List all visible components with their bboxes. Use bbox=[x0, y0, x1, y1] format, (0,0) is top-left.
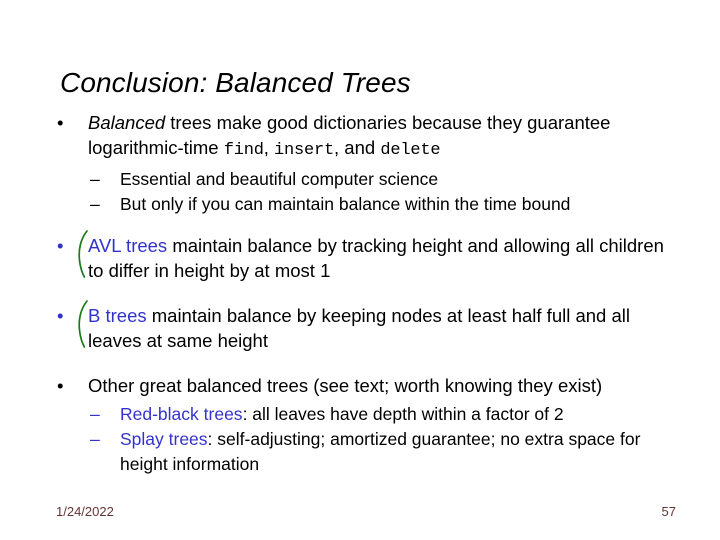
sub-bullet-essential: – Essential and beautiful computer scien… bbox=[88, 167, 672, 192]
bullet-text: B trees maintain balance by keeping node… bbox=[88, 305, 630, 351]
sub-bullet-text: Splay trees: self-adjusting; amortized g… bbox=[120, 429, 640, 474]
sub-bullet-text: Essential and beautiful computer science bbox=[120, 169, 438, 189]
bullet-run-emphasis: Balanced bbox=[88, 112, 165, 133]
footer-page-number: 57 bbox=[0, 503, 676, 520]
spacer bbox=[52, 287, 672, 303]
bullet-run-sep1: , bbox=[264, 137, 274, 158]
bullet-avl-trees: • AVL trees maintain balance by tracking… bbox=[52, 233, 672, 283]
slide-body: • Balanced trees make good dictionaries … bbox=[52, 110, 672, 477]
bullet-marker-icon: • bbox=[57, 233, 63, 258]
sub-bullet-red-black-trees: – Red-black trees: all leaves have depth… bbox=[88, 402, 672, 427]
dash-marker-icon: – bbox=[90, 402, 100, 427]
code-find: find bbox=[224, 141, 264, 160]
sub-bullet-text: Red-black trees: all leaves have depth w… bbox=[120, 404, 564, 424]
bullet-b-trees: • B trees maintain balance by keeping no… bbox=[52, 303, 672, 353]
code-delete: delete bbox=[380, 141, 440, 160]
dash-marker-icon: – bbox=[90, 192, 100, 217]
bullet-run-sep2: , and bbox=[334, 137, 380, 158]
spacer bbox=[52, 357, 672, 373]
bullet-text: Balanced trees make good dictionaries be… bbox=[88, 112, 610, 158]
annotation-paren-wrap: B trees bbox=[88, 303, 147, 328]
bullet-text: AVL trees maintain balance by tracking h… bbox=[88, 235, 664, 281]
green-open-paren-icon bbox=[75, 230, 89, 278]
sub-bullet-maintain-balance: – But only if you can maintain balance w… bbox=[88, 192, 672, 217]
bullet-text: Other great balanced trees (see text; wo… bbox=[88, 375, 602, 396]
bullet-other-trees: • Other great balanced trees (see text; … bbox=[52, 373, 672, 398]
bullet-run-plain: maintain balance by keeping nodes at lea… bbox=[88, 305, 630, 351]
slide-canvas: Conclusion: Balanced Trees • Balanced tr… bbox=[0, 0, 720, 540]
bullet-balanced-trees: • Balanced trees make good dictionaries … bbox=[52, 110, 672, 163]
bullet-marker-icon: • bbox=[57, 110, 63, 135]
sub-list-other-trees: – Red-black trees: all leaves have depth… bbox=[52, 402, 672, 477]
annotation-paren-wrap: AVL trees bbox=[88, 233, 167, 258]
sub-bullet-text: But only if you can maintain balance wit… bbox=[120, 194, 570, 214]
sub-bullet-run-plain: : all leaves have depth within a factor … bbox=[243, 404, 564, 424]
bullet-marker-icon: • bbox=[57, 303, 63, 328]
green-open-paren-icon bbox=[75, 300, 89, 348]
link-avl-trees[interactable]: AVL trees bbox=[88, 235, 167, 256]
link-b-trees[interactable]: B trees bbox=[88, 305, 147, 326]
spacer bbox=[52, 217, 672, 233]
link-splay-trees[interactable]: Splay trees bbox=[120, 429, 208, 449]
dash-marker-icon: – bbox=[90, 167, 100, 192]
link-red-black-trees[interactable]: Red-black trees bbox=[120, 404, 243, 424]
bullet-run-plain: maintain balance by tracking height and … bbox=[88, 235, 664, 281]
dash-marker-icon: – bbox=[90, 427, 100, 452]
code-insert: insert bbox=[274, 141, 334, 160]
sub-bullet-splay-trees: – Splay trees: self-adjusting; amortized… bbox=[88, 427, 672, 477]
sub-list-balanced-trees: – Essential and beautiful computer scien… bbox=[52, 167, 672, 217]
bullet-marker-icon: • bbox=[57, 373, 63, 398]
page-title: Conclusion: Balanced Trees bbox=[60, 66, 660, 100]
